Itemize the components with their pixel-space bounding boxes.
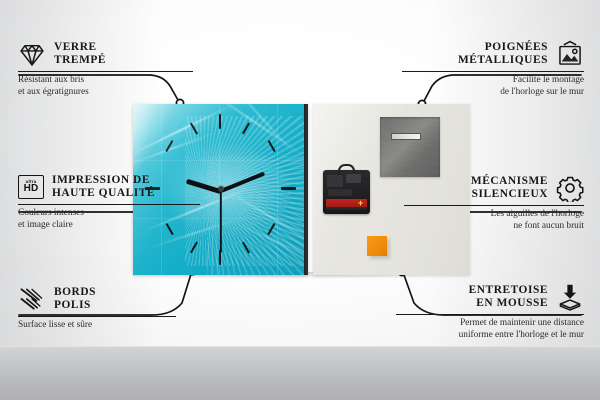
feature-subtitle-line-2: ne font aucun bruit (398, 221, 584, 232)
feature-rule (18, 204, 200, 205)
infographic-canvas: + VERRE TREMPÉ Résistant (0, 0, 600, 400)
feature-title-line-2: POLIS (54, 299, 96, 312)
feature-title-line-1: POIGNÉES (458, 41, 548, 54)
feature-entretoise-en-mousse: ENTRETOISE EN MOUSSE Permet de maintenir… (392, 283, 584, 341)
feature-title-line-1: BORDS (54, 286, 96, 299)
bracket-mounting-slot (391, 133, 421, 140)
feature-verre-trempe: VERRE TREMPÉ Résistant aux bris et aux é… (18, 40, 198, 98)
clock-polished-edge (304, 104, 308, 275)
feature-title-line-2: HAUTE QUALITÉ (52, 187, 155, 200)
feature-subtitle-line-1: Surface lisse et sûre (18, 320, 178, 331)
clock-tick-10 (165, 140, 174, 152)
feature-subtitle-line-2: et image claire (18, 220, 203, 231)
feature-subtitle-line-1: Résistant aux bris (18, 75, 198, 86)
feature-subtitle-line-2: de l'horloge sur le mur (394, 87, 584, 98)
feature-mecanisme-silencieux: MÉCANISME SILENCIEUX Les aiguilles de l'… (398, 174, 584, 232)
feature-bords-polis: BORDS POLIS Surface lisse et sûre (18, 285, 178, 332)
bracket-texture (380, 117, 440, 177)
clock-second-hand (220, 190, 222, 253)
feature-rule (402, 71, 584, 72)
mechanism-housing-detail (328, 189, 352, 196)
feature-title-line-1: VERRE (54, 41, 106, 54)
ultra-hd-icon: ultra HD (18, 175, 44, 199)
feature-title-line-1: ENTRETOISE (469, 284, 548, 297)
battery-plus-terminal: + (357, 200, 364, 207)
ultra-hd-icon-large-text: HD (24, 184, 39, 195)
diamond-icon (18, 40, 46, 68)
feature-subtitle-line-1: Permet de maintenir une distance (392, 318, 584, 329)
metal-hanging-bracket (380, 117, 440, 177)
picture-hanger-icon (556, 40, 584, 68)
feature-rule (396, 314, 584, 315)
aa-battery: + (326, 199, 367, 211)
feature-title-line-1: IMPRESSION DE (52, 174, 155, 187)
clock-tick-12 (219, 114, 221, 129)
feature-rule (18, 71, 193, 72)
mechanism-housing-detail (327, 175, 343, 187)
feature-title-line-2: TREMPÉ (54, 54, 106, 67)
clock-tick-5 (242, 241, 251, 253)
feature-rule (18, 316, 176, 317)
feature-rule (404, 205, 584, 206)
mechanism-hanging-hook (338, 164, 355, 173)
feature-impression-haute-qualite: ultra HD IMPRESSION DE HAUTE QUALITÉ Cou… (18, 174, 203, 231)
feature-title-line-2: SILENCIEUX (471, 188, 548, 201)
clock-minute-hand (220, 171, 265, 193)
feature-subtitle-line-2: uniforme entre l'horloge et le mur (392, 330, 584, 341)
feature-subtitle-line-1: Les aiguilles de l'horloge (398, 209, 584, 220)
clock-tick-11 (190, 122, 199, 134)
clock-tick-2 (267, 140, 276, 152)
foam-spacer (367, 236, 387, 256)
feature-subtitle-line-1: Couleurs intenses (18, 208, 203, 219)
clock-tick-1 (242, 122, 251, 134)
clock-tick-4 (267, 223, 276, 235)
clock-center-pin (218, 186, 224, 192)
foam-spacer-icon (556, 283, 584, 311)
feature-title-line-2: MÉTALLIQUES (458, 54, 548, 67)
feature-title-line-2: EN MOUSSE (469, 297, 548, 310)
gear-icon (556, 174, 584, 202)
clock-tick-7 (190, 241, 199, 253)
mechanism-housing-detail (346, 174, 361, 183)
clock-tick-3 (281, 187, 296, 190)
clock-mechanism: + (323, 170, 370, 214)
feature-title-line-1: MÉCANISME (471, 175, 548, 188)
battery-base-band (326, 207, 367, 211)
feature-subtitle-line-2: et aux égratignures (18, 87, 198, 98)
feature-subtitle-line-1: Facilite le montage (394, 75, 584, 86)
feature-poignees-metalliques: POIGNÉES MÉTALLIQUES Facilite le montage… (394, 40, 584, 98)
polished-edges-icon (18, 285, 46, 313)
